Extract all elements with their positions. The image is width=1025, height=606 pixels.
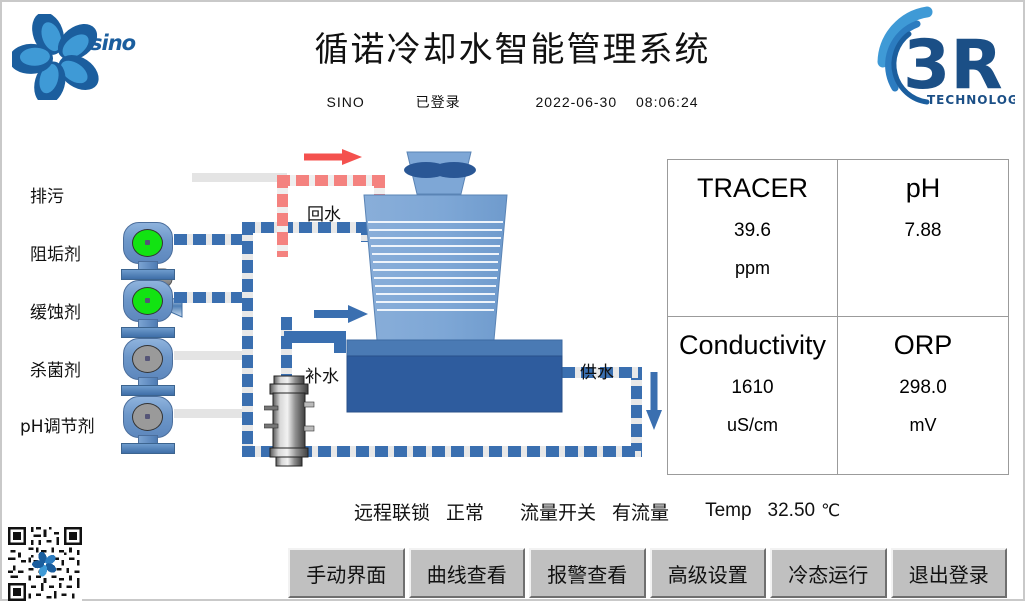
trend-view-button[interactable]: 曲线查看 — [409, 548, 526, 598]
system-time: 08:06:24 — [636, 94, 699, 110]
readout-unit: mV — [910, 415, 937, 436]
qr-code — [8, 527, 82, 601]
readout-unit: ppm — [735, 258, 770, 279]
alarm-view-button[interactable]: 报警查看 — [529, 548, 646, 598]
readout-ph[interactable]: pH 7.88 — [838, 160, 1008, 317]
status-row: 远程联锁 正常 流量开关 有流量 Temp 32.50 ℃ — [354, 496, 994, 526]
readout-orp[interactable]: ORP 298.0 mV — [838, 317, 1008, 474]
label-makeup-water: 补水 — [305, 362, 339, 387]
readout-value: 298.0 — [899, 377, 947, 399]
readout-value: 39.6 — [734, 220, 771, 242]
readout-name: ORP — [894, 330, 953, 361]
readout-tracer[interactable]: TRACER 39.6 ppm — [668, 160, 838, 317]
flow-switch-value: 有流量 — [612, 498, 669, 525]
measurement-panel: TRACER 39.6 ppm pH 7.88 Conductivity 161… — [667, 159, 1009, 475]
readout-unit: uS/cm — [727, 415, 778, 436]
readout-value: 7.88 — [905, 220, 942, 242]
flow-switch-label: 流量开关 — [520, 498, 596, 525]
readout-name: Conductivity — [679, 330, 826, 361]
readout-conductivity[interactable]: Conductivity 1610 uS/cm — [668, 317, 838, 474]
label-supply-water: 供水 — [580, 358, 614, 383]
process-diagram: 排污 阻垢剂 缓蚀剂 杀菌剂 pH调节剂 — [2, 122, 662, 482]
login-status: 已登录 — [416, 92, 461, 112]
bottom-button-bar: 手动界面 曲线查看 报警查看 高级设置 冷态运行 退出登录 — [288, 548, 1007, 598]
cold-start-button[interactable]: 冷态运行 — [770, 548, 887, 598]
hmi-screen: sino 循诺冷却水智能管理系统 SINO 已登录 2022-06-30 08:… — [0, 0, 1025, 601]
advanced-settings-button[interactable]: 高级设置 — [650, 548, 767, 598]
svg-text:TECHNOLOGY: TECHNOLOGY — [927, 93, 1015, 107]
logout-button[interactable]: 退出登录 — [891, 548, 1008, 598]
threer-technology-logo: 3R TECHNOLOGY — [865, 4, 1015, 116]
readout-name: TRACER — [697, 173, 808, 204]
cooling-tower-icon[interactable] — [2, 122, 662, 482]
readout-name: pH — [906, 173, 941, 204]
remote-interlock-value: 正常 — [446, 498, 484, 525]
readout-value: 1610 — [731, 377, 773, 399]
label-return-water: 回水 — [307, 200, 341, 225]
current-user: SINO — [326, 94, 364, 110]
manual-interface-button[interactable]: 手动界面 — [288, 548, 405, 598]
system-date: 2022-06-30 — [536, 94, 618, 110]
remote-interlock-label: 远程联锁 — [354, 498, 430, 525]
temperature-unit: ℃ — [821, 501, 840, 521]
temperature-label: Temp — [705, 500, 751, 522]
temperature-value: 32.50 — [768, 500, 816, 522]
